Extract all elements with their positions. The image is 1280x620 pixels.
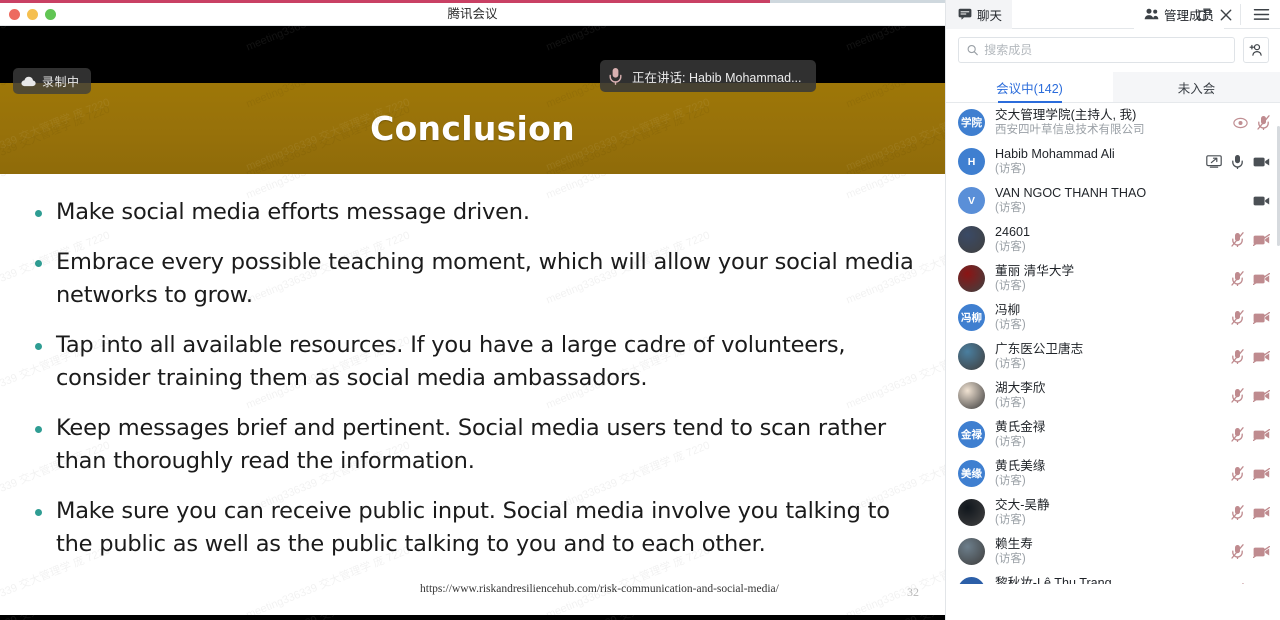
avatar: 美缘 <box>958 460 985 487</box>
participant-info: 交大管理学院(主持人, 我)西安四叶草信息技术有限公司 <box>995 107 1223 138</box>
camera-on-icon[interactable] <box>1253 156 1270 168</box>
recording-badge[interactable]: 录制中 <box>13 68 91 94</box>
participant-name: 黎秋妆-Lê Thu Trang <box>995 575 1221 584</box>
participant-status-icons <box>1231 427 1270 442</box>
participant-status-icons <box>1233 115 1270 130</box>
search-input[interactable] <box>984 43 1226 57</box>
people-icon <box>1144 8 1159 20</box>
avatar: 冯柳 <box>958 304 985 331</box>
slide-bullet: Make social media efforts message driven… <box>26 196 921 229</box>
mic-muted-icon[interactable] <box>1231 505 1244 520</box>
participant-subtitle: (访客) <box>995 552 1221 567</box>
participant-subtitle: (访客) <box>995 240 1221 255</box>
avatar-initials: 冯柳 <box>961 310 982 325</box>
camera-muted-icon[interactable] <box>1253 273 1270 285</box>
participant-info: 冯柳(访客) <box>995 302 1221 333</box>
panel-tab-bar: 聊天 管理成员 <box>946 0 1280 29</box>
mic-muted-icon[interactable] <box>1231 310 1244 325</box>
participant-row[interactable]: 学院交大管理学院(主持人, 我)西安四叶草信息技术有限公司 <box>946 103 1280 142</box>
participant-name: 交大管理学院(主持人, 我) <box>995 107 1223 123</box>
recording-label: 录制中 <box>42 73 80 90</box>
avatar-initials: H <box>968 156 976 168</box>
participant-info: 黄氏美缘(访客) <box>995 458 1221 489</box>
participants-panel: 聊天 管理成员 <box>945 0 1280 620</box>
cloud-record-icon <box>21 76 36 87</box>
participant-row[interactable]: 湖大李欣(访客) <box>946 376 1280 415</box>
camera-muted-icon[interactable] <box>1253 312 1270 324</box>
active-speaker-pill[interactable]: 正在讲话: Habib Mohammad... <box>600 60 816 92</box>
participant-info: VAN NGOC THANH THAO(访客) <box>995 185 1243 216</box>
avatar <box>958 538 985 565</box>
participant-name: 24601 <box>995 224 1221 240</box>
segment-not-joined-label: 未入会 <box>1178 78 1216 97</box>
participant-info: 湖大李欣(访客) <box>995 380 1221 411</box>
camera-muted-icon[interactable] <box>1253 546 1270 558</box>
avatar: V <box>958 187 985 214</box>
tab-chat-label: 聊天 <box>977 5 1002 24</box>
participant-name: VAN NGOC THANH THAO <box>995 185 1243 201</box>
avatar: na <box>958 577 985 584</box>
participant-name: Habib Mohammad Ali <box>995 146 1196 162</box>
participant-subtitle: (访客) <box>995 513 1221 528</box>
participant-subtitle: (访客) <box>995 357 1221 372</box>
camera-muted-icon[interactable] <box>1253 429 1270 441</box>
participant-status-icons <box>1231 505 1270 520</box>
chat-icon <box>958 8 972 20</box>
slide-bullet: Embrace every possible teaching moment, … <box>26 246 921 312</box>
close-icon[interactable] <box>1220 9 1232 21</box>
participant-info: 黄氏金禄(访客) <box>995 419 1221 450</box>
participant-name: 黄氏金禄 <box>995 419 1221 435</box>
panel-header-actions <box>1198 0 1232 29</box>
avatar-initials: V <box>968 195 975 207</box>
mic-muted-icon[interactable] <box>1231 388 1244 403</box>
participant-row[interactable]: 24601(访客) <box>946 220 1280 259</box>
slide-title-bar: meeting336339 交大管理学 庞 7220meeting336339 … <box>0 83 945 174</box>
camera-muted-icon[interactable] <box>1253 351 1270 363</box>
participant-subtitle: (访客) <box>995 279 1221 294</box>
slide-page-number: 32 <box>907 585 919 600</box>
mic-on-icon[interactable] <box>1231 154 1244 169</box>
avatar: H <box>958 148 985 175</box>
mic-muted-icon[interactable] <box>1231 583 1244 584</box>
slide-bullet: Keep messages brief and pertinent. Socia… <box>26 412 921 478</box>
participant-name: 湖大李欣 <box>995 380 1221 396</box>
avatar <box>958 265 985 292</box>
participant-list[interactable]: 学院交大管理学院(主持人, 我)西安四叶草信息技术有限公司 HHabib Moh… <box>946 103 1280 584</box>
participant-name: 黄氏美缘 <box>995 458 1221 474</box>
camera-muted-icon[interactable] <box>1253 468 1270 480</box>
participant-status-icons <box>1253 195 1270 207</box>
popout-icon[interactable] <box>1198 8 1211 21</box>
search-row <box>946 29 1280 72</box>
participant-row[interactable]: 冯柳冯柳(访客) <box>946 298 1280 337</box>
search-icon <box>967 44 978 56</box>
participant-name: 冯柳 <box>995 302 1221 318</box>
hamburger-icon[interactable] <box>1253 0 1270 29</box>
participant-subtitle: (访客) <box>995 162 1196 177</box>
slide-title: Conclusion <box>370 109 575 148</box>
add-person-icon <box>1249 43 1263 57</box>
mic-muted-icon[interactable] <box>1231 427 1244 442</box>
record-dot-icon[interactable] <box>1233 116 1248 130</box>
participant-status-icons <box>1231 583 1270 584</box>
participant-name: 广东医公卫唐志 <box>995 341 1221 357</box>
window-title: 腾讯会议 <box>0 3 945 25</box>
avatar <box>958 343 985 370</box>
slide-body: meeting336339 交大管理学 庞 7220meeting336339 … <box>0 174 945 615</box>
participant-row[interactable]: VVAN NGOC THANH THAO(访客) <box>946 181 1280 220</box>
camera-muted-icon[interactable] <box>1253 390 1270 402</box>
microphone-icon <box>608 67 623 85</box>
participant-status-icons <box>1231 310 1270 325</box>
participant-status-icons <box>1231 388 1270 403</box>
segment-in-meeting-label: 会议中(142) <box>996 78 1063 97</box>
participant-info: 赖生寿(访客) <box>995 536 1221 567</box>
slide-bullet: Make sure you can receive public input. … <box>26 495 921 561</box>
avatar <box>958 382 985 409</box>
participant-row[interactable]: 美缘黄氏美缘(访客) <box>946 454 1280 493</box>
participant-name: 赖生寿 <box>995 536 1221 552</box>
slide-bullet-list: Make social media efforts message driven… <box>26 196 921 561</box>
participant-subtitle: (访客) <box>995 435 1221 450</box>
camera-muted-icon[interactable] <box>1253 507 1270 519</box>
participant-info: 黎秋妆-Lê Thu Trang(访客) <box>995 575 1221 584</box>
participant-row[interactable]: 广东医公卫唐志(访客) <box>946 337 1280 376</box>
participant-row[interactable]: 董丽 清华大学(访客) <box>946 259 1280 298</box>
avatar <box>958 499 985 526</box>
participant-info: 24601(访客) <box>995 224 1221 255</box>
slide-bullet: Tap into all available resources. If you… <box>26 329 921 395</box>
mic-muted-icon[interactable] <box>1231 232 1244 247</box>
participant-status-icons <box>1206 154 1270 169</box>
avatar-initials: 学院 <box>961 115 982 130</box>
participant-status-icons <box>1231 544 1270 559</box>
participant-row[interactable]: HHabib Mohammad Ali(访客) <box>946 142 1280 181</box>
presentation-slide: meeting336339 交大管理学 庞 7220meeting336339 … <box>0 83 945 615</box>
avatar: 学院 <box>958 109 985 136</box>
avatar-initials: 美缘 <box>961 466 982 481</box>
mic-muted-icon[interactable] <box>1231 271 1244 286</box>
search-box[interactable] <box>958 37 1235 63</box>
mic-muted-icon[interactable] <box>1231 544 1244 559</box>
participant-row[interactable]: na黎秋妆-Lê Thu Trang(访客) <box>946 571 1280 584</box>
slide-footer: https://www.riskandresiliencehub.com/ris… <box>0 583 945 601</box>
screen-share-icon[interactable] <box>1206 155 1222 168</box>
mic-muted-icon[interactable] <box>1231 349 1244 364</box>
app-root: 腾讯会议 meeting336339 交大管理学 庞 7220meeting33… <box>0 0 1280 620</box>
participant-subtitle: (访客) <box>995 396 1221 411</box>
segment-not-joined[interactable]: 未入会 <box>1113 72 1280 102</box>
avatar: 金禄 <box>958 421 985 448</box>
participant-info: 广东医公卫唐志(访客) <box>995 341 1221 372</box>
participant-status-icons <box>1231 232 1270 247</box>
participant-status-icons <box>1231 271 1270 286</box>
participant-subtitle: (访客) <box>995 201 1243 216</box>
segment-in-meeting[interactable]: 会议中(142) <box>946 72 1113 102</box>
shared-screen-stage[interactable]: meeting336339 交大管理学 庞 7220meeting336339 … <box>0 26 945 620</box>
participant-status-icons <box>1231 349 1270 364</box>
tab-chat[interactable]: 聊天 <box>946 0 1012 29</box>
participant-row[interactable]: 金禄黄氏金禄(访客) <box>946 415 1280 454</box>
avatar-initials: 金禄 <box>961 427 982 442</box>
mic-muted-icon[interactable] <box>1231 466 1244 481</box>
participant-status-icons <box>1231 466 1270 481</box>
participant-subtitle: 西安四叶草信息技术有限公司 <box>995 123 1223 138</box>
participant-info: 交大-吴静(访客) <box>995 497 1221 528</box>
slide-source-url: https://www.riskandresiliencehub.com/ris… <box>420 583 779 595</box>
participant-row[interactable]: 赖生寿(访客) <box>946 532 1280 571</box>
window-titlebar: 腾讯会议 <box>0 3 945 25</box>
panel-header-divider <box>1240 4 1241 25</box>
avatar <box>958 226 985 253</box>
camera-muted-icon[interactable] <box>1253 234 1270 246</box>
participant-info: 董丽 清华大学(访客) <box>995 263 1221 294</box>
participant-info: Habib Mohammad Ali(访客) <box>995 146 1196 177</box>
participant-name: 董丽 清华大学 <box>995 263 1221 279</box>
participant-subtitle: (访客) <box>995 318 1221 333</box>
participant-segment-tabs: 会议中(142) 未入会 <box>946 72 1280 103</box>
participant-name: 交大-吴静 <box>995 497 1221 513</box>
mic-muted-icon[interactable] <box>1257 115 1270 130</box>
participant-subtitle: (访客) <box>995 474 1221 489</box>
camera-on-icon[interactable] <box>1253 195 1270 207</box>
participant-row[interactable]: 交大-吴静(访客) <box>946 493 1280 532</box>
active-speaker-label: 正在讲话: Habib Mohammad... <box>632 67 802 86</box>
add-member-button[interactable] <box>1243 37 1269 63</box>
